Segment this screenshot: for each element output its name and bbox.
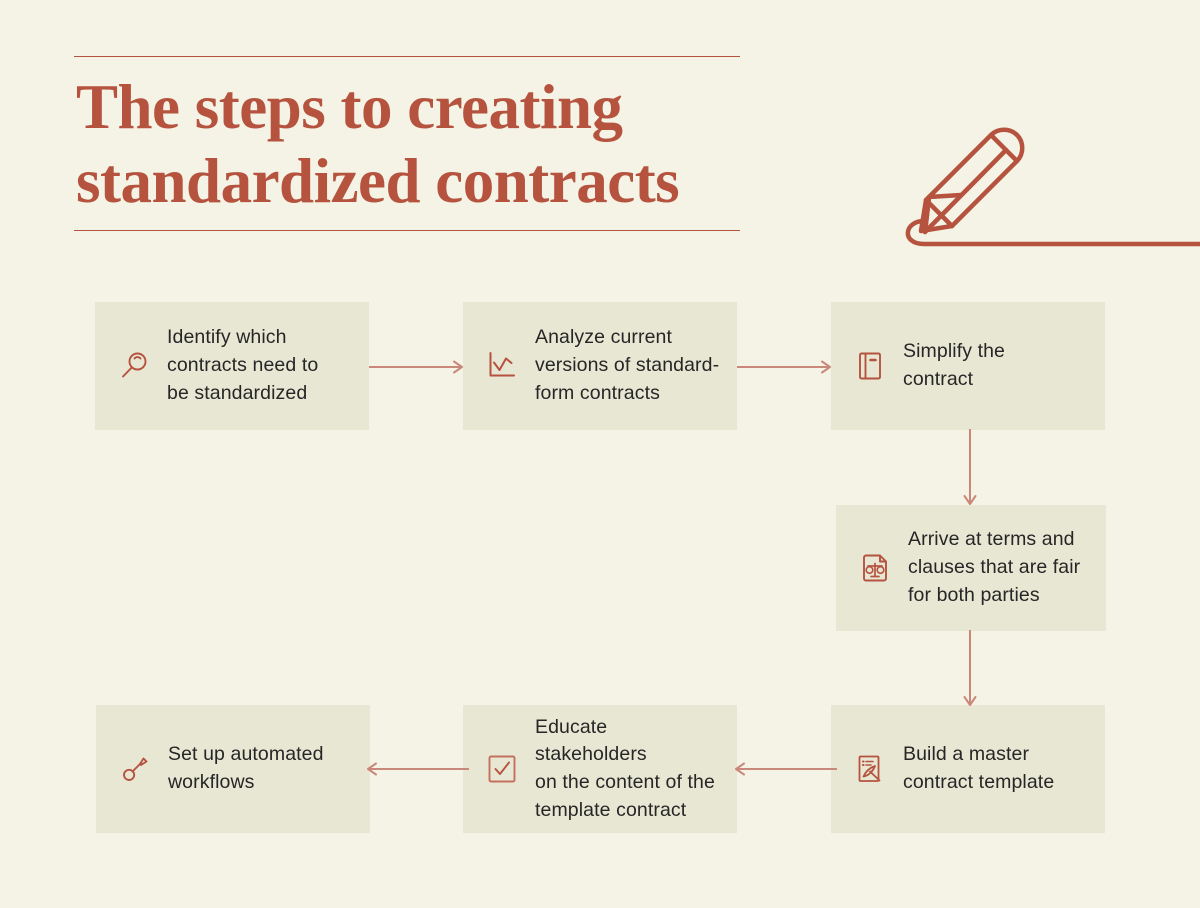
flow-step-build-template[interactable]: Build a master contract template [831,705,1105,833]
page-title: The steps to creating standardized contr… [76,71,740,218]
flow-step-simplify[interactable]: Simplify the contract [831,302,1105,430]
flow-step-label: Identify which contracts need to be stan… [167,324,318,407]
title-rule-bottom [74,230,740,231]
pencil-drawing-line-icon [880,108,1200,248]
connector-arrow-identify-to-analyze [368,352,468,382]
screwdriver-icon [118,752,152,786]
quill-signing-document-icon [853,752,887,786]
title-rule-top [74,56,740,57]
flow-step-label: Arrive at terms and clauses that are fai… [908,526,1080,609]
checkbox-checked-icon [485,752,519,786]
connector-arrow-analyze-to-simplify [736,352,836,382]
flow-step-label: Build a master contract template [903,741,1054,796]
connector-arrow-arrive-at-terms-to-build-template [955,629,985,711]
flow-step-analyze[interactable]: Analyze current versions of standard- fo… [463,302,737,430]
flow-step-label: Analyze current versions of standard- fo… [535,324,719,407]
flow-step-automate[interactable]: Set up automated workflows [96,705,370,833]
connector-arrow-build-template-to-educate [730,754,838,784]
scales-of-justice-document-icon [858,551,892,585]
flow-step-label: Simplify the contract [903,338,1005,393]
line-chart-icon [485,349,519,383]
flow-step-educate[interactable]: Educate stakeholders on the content of t… [463,705,737,833]
magnifying-glass-icon [117,349,151,383]
header: The steps to creating standardized contr… [74,56,740,231]
flow-step-arrive-at-terms[interactable]: Arrive at terms and clauses that are fai… [836,505,1106,631]
flow-step-identify[interactable]: Identify which contracts need to be stan… [95,302,369,430]
flow-step-label: Set up automated workflows [168,741,324,796]
document-book-icon [853,349,887,383]
connector-arrow-simplify-to-arrive-at-terms [955,428,985,510]
flow-step-label: Educate stakeholders on the content of t… [535,714,723,825]
connector-arrow-educate-to-automate [362,754,470,784]
